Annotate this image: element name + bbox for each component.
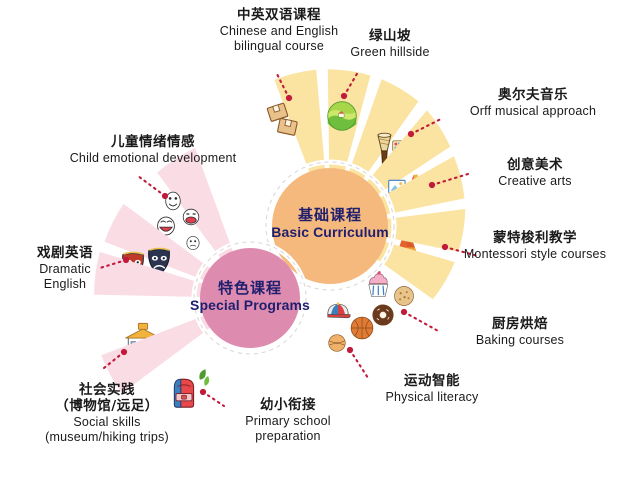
basic-hub-label-en: Basic Curriculum [270, 224, 390, 241]
label-en-1: Dramatic [6, 262, 124, 277]
label-primary-prep: 幼小衔接 Primary school preparation [213, 398, 363, 443]
label-baking: 厨房烘焙 Baking courses [440, 317, 600, 348]
label-cn: 中英双语课程 [184, 8, 374, 24]
label-dramatic-english: 戏剧英语 Dramatic English [6, 246, 124, 291]
label-cn: 戏剧英语 [6, 246, 124, 262]
label-en-1: Montessori style courses [444, 247, 626, 262]
label-en-1: Baking courses [440, 333, 600, 348]
label-en-1: Physical literacy [352, 390, 512, 405]
label-social-skills: 社会实践 （博物馆/远足） Social skills (museum/hiki… [16, 383, 198, 444]
label-en-2: preparation [213, 429, 363, 444]
special-hub-label-en: Special Programs [190, 297, 310, 314]
label-physical-literacy: 运动智能 Physical literacy [352, 374, 512, 405]
label-cn: 蒙特梭利教学 [444, 231, 626, 247]
basic-hub-label-cn: 基础课程 [270, 206, 390, 224]
basic-hub-label: 基础课程 Basic Curriculum [270, 206, 390, 241]
label-en-1: Primary school [213, 414, 363, 429]
label-cn: 运动智能 [352, 374, 512, 390]
label-green-hillside: 绿山坡 Green hillside [330, 29, 450, 60]
label-en-1: Child emotional development [48, 151, 258, 166]
label-orff-music: 奥尔夫音乐 Orff musical approach [443, 88, 623, 119]
label-creative-arts: 创意美术 Creative arts [460, 158, 610, 189]
infographic-canvas: 基础课程 Basic Curriculum 特色课程 Special Progr… [0, 0, 626, 500]
label-cn: 绿山坡 [330, 29, 450, 45]
label-en-1: Orff musical approach [443, 104, 623, 119]
label-cn: 奥尔夫音乐 [443, 88, 623, 104]
label-cn: 儿童情绪情感 [48, 135, 258, 151]
label-en-2: (museum/hiking trips) [16, 430, 198, 445]
label-cn: 社会实践 [16, 383, 198, 399]
label-en-2: English [6, 277, 124, 292]
label-cn: 厨房烘焙 [440, 317, 600, 333]
label-montessori: 蒙特梭利教学 Montessori style courses [444, 231, 626, 262]
label-cn-2: （博物馆/远足） [16, 399, 198, 415]
label-cn: 幼小衔接 [213, 398, 363, 414]
label-en-1: Creative arts [460, 174, 610, 189]
label-cn: 创意美术 [460, 158, 610, 174]
label-child-emotional: 儿童情绪情感 Child emotional development [48, 135, 258, 166]
label-en-1: Green hillside [330, 45, 450, 60]
special-hub-label-cn: 特色课程 [190, 279, 310, 297]
label-en-1: Social skills [16, 415, 198, 430]
special-hub-label: 特色课程 Special Programs [190, 279, 310, 314]
